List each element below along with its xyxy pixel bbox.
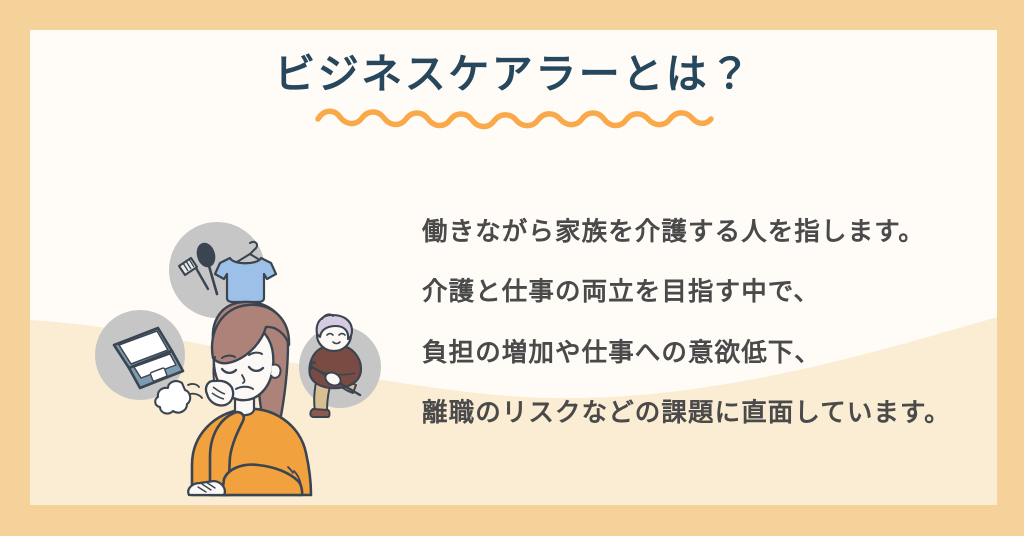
body-line-2: 介護と仕事の両立を目指す中で、 <box>422 278 982 307</box>
body-line-1: 働きながら家族を介護する人を指します。 <box>422 218 982 247</box>
body-line-3: 負担の増加や仕事への意欲低下、 <box>422 339 982 368</box>
page-title: ビジネスケアラーとは？ <box>30 52 997 97</box>
elderly-bubble <box>299 314 381 417</box>
slide-frame: ビジネスケアラーとは？ 働きながら家族を介護する人を指します。 介護と仕事の両立… <box>0 0 1024 536</box>
title-wavy-underline <box>314 107 714 131</box>
body-copy: 働きながら家族を介護する人を指します。 介護と仕事の両立を目指す中で、 負担の増… <box>422 218 982 428</box>
slide-panel: ビジネスケアラーとは？ 働きながら家族を介護する人を指します。 介護と仕事の両立… <box>30 30 997 505</box>
body-line-4: 離職のリスクなどの課題に直面しています。 <box>422 399 982 428</box>
illustration-worried-woman <box>72 195 432 495</box>
title-block: ビジネスケアラーとは？ <box>30 52 997 131</box>
worried-woman <box>188 302 311 495</box>
